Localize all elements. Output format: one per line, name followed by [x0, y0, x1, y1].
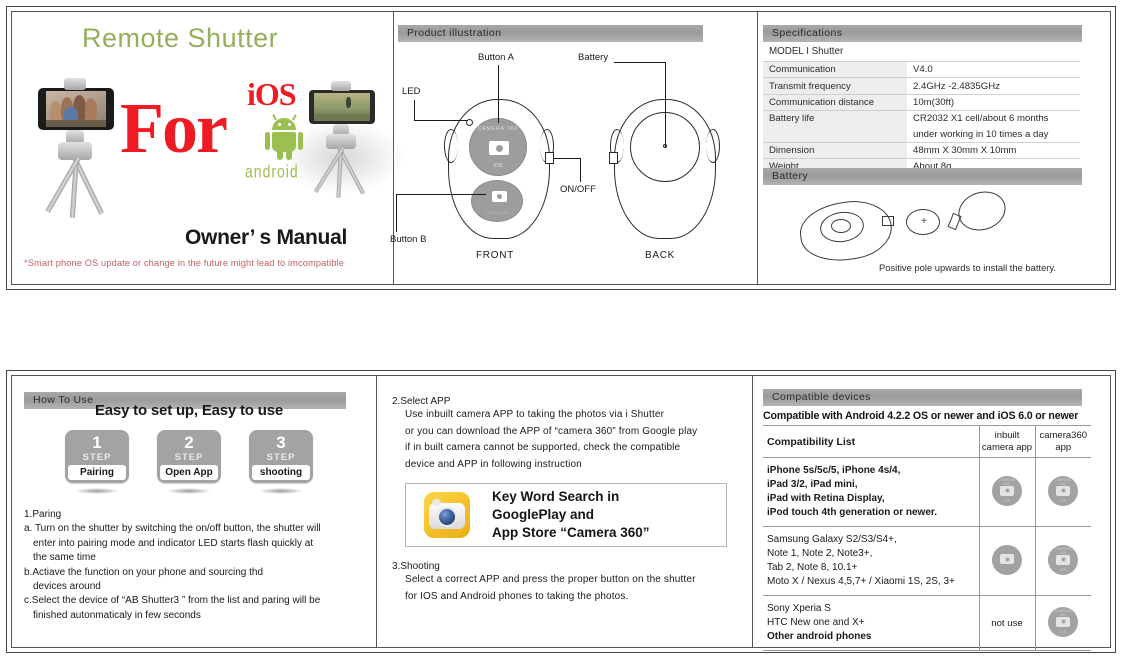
compatibility-table: Compatibility List inbuilt camera app ca…	[763, 425, 1091, 651]
compat-header-list: Compatibility List	[763, 426, 979, 458]
spec-row: Transmit frequency 2.4GHz -2.4835GHz	[763, 78, 1080, 94]
step-3-shadow	[259, 488, 303, 494]
select-app-line: or you can download the APP of “camera 3…	[392, 424, 732, 441]
mini-camera-lens	[1061, 488, 1066, 493]
battery-cover-lid	[953, 186, 1010, 237]
remote-back-side-button	[609, 152, 618, 164]
leader-button-b-v	[396, 194, 397, 232]
spec-key: Dimension	[763, 142, 907, 158]
section-header-compatible-devices: Compatible devices	[763, 389, 1082, 406]
mini-arc-text: CAMERA 360	[995, 478, 1019, 485]
compat-header-c360-l2: app	[1037, 442, 1091, 454]
compatible-subtitle: Compatible with Android 4.2.2 OS or newe…	[763, 410, 1093, 422]
shooting-line: Select a correct APP and press the prope…	[392, 572, 732, 589]
camera360-button-icon: CAMERA 360 iOS	[1048, 476, 1078, 506]
compatible-devices-area: Compatible with Android 4.2.2 OS or newe…	[763, 410, 1093, 651]
label-onoff: ON/OFF	[560, 184, 596, 195]
spec-value: 10m(30ft)	[907, 94, 1080, 110]
leader-led-v	[414, 100, 415, 121]
spec-value: under working in 10 times a day	[907, 127, 1080, 143]
label-led: LED	[402, 86, 420, 97]
camera360-icon-lens	[437, 507, 457, 527]
step-1-word: STEP	[65, 452, 129, 463]
mini-camera-lens	[1005, 557, 1010, 562]
compat-header-camera360: camera360 app	[1035, 426, 1091, 458]
tripod-left-head	[64, 78, 86, 90]
leader-onoff-h	[554, 158, 580, 159]
select-app-area: 2.Select APP Use inbuilt camera APP to t…	[392, 396, 732, 605]
compat-camera360-cell: CAMERA 360 iOS	[1035, 527, 1091, 596]
device-line: Other android phones	[767, 630, 975, 644]
mini-camera-lens	[1005, 488, 1010, 493]
device-line: Sony Xperia S	[767, 602, 975, 616]
button-a-arc-text: CAMERA 360	[470, 126, 526, 132]
select-app-heading: 2.Select APP	[392, 396, 732, 407]
button-b-sub-text: CAMERA 360	[472, 210, 522, 215]
spec-key: Communication	[763, 62, 907, 78]
step-3-word: STEP	[249, 452, 313, 463]
phone-left-screen	[46, 91, 106, 127]
mini-arc-text: CAMERA 360	[1051, 609, 1075, 616]
mini-sub-text: iOS	[1048, 499, 1078, 503]
hero-ios-text: iOS	[247, 76, 296, 113]
device-line: Note 1, Note 2, Note3+,	[767, 547, 975, 561]
mini-sub-text: iOS	[992, 499, 1022, 503]
remote-front-grip-left	[444, 129, 458, 163]
mini-arc-text: CAMERA 360	[1051, 478, 1075, 485]
compat-header-inbuilt: inbuilt camera app	[979, 426, 1035, 458]
spec-value: 2.4GHz -2.4835GHz	[907, 78, 1080, 94]
select-app-line: if in built camera cannot be supported, …	[392, 440, 732, 457]
camera360-app-icon	[424, 492, 470, 538]
pairing-line: the same time	[24, 551, 354, 565]
android-wordmark: android	[245, 161, 299, 181]
keyword-search-text: Key Word Search in GooglePlay and App St…	[492, 488, 650, 542]
bottom-col-divider-1	[376, 376, 377, 647]
spec-row: Dimension 48mm X 30mm X 10mm	[763, 142, 1080, 158]
step-2-shadow	[167, 488, 211, 494]
button-a-sub-text: iOS	[470, 163, 526, 169]
compatibility-warning-note: *Smart phone OS update or change in the …	[24, 258, 344, 268]
step-3-number: 3	[249, 430, 313, 452]
label-view-front: FRONT	[476, 250, 514, 261]
phone-right-screen	[314, 93, 370, 121]
spec-value: 48mm X 30mm X 10mm	[907, 142, 1080, 158]
device-line: Samsung Galaxy S2/S3/S4+,	[767, 533, 975, 547]
leader-button-a	[498, 65, 499, 123]
compat-header-inbuilt-l2: camera app	[981, 442, 1034, 454]
spec-value: CR2032 X1 cell/about 6 months	[907, 111, 1080, 127]
battery-plus-symbol: +	[919, 217, 929, 227]
device-line: iPad with Retina Display,	[767, 492, 975, 506]
keyword-line-2: GooglePlay and	[492, 506, 650, 524]
camera360-button-icon: CAMERA 360 iOS	[1048, 545, 1078, 575]
compat-device-list: Samsung Galaxy S2/S3/S4+, Note 1, Note 2…	[763, 527, 979, 596]
remote-onoff-switch[interactable]	[545, 152, 554, 164]
shooting-heading: 3.Shooting	[392, 561, 732, 572]
spec-key: Communication distance	[763, 94, 907, 110]
device-line: iPhone 5s/5c/5, iPhone 4s/4,	[767, 464, 975, 478]
leader-onoff-v	[580, 158, 581, 182]
spec-value: V4.0	[907, 62, 1080, 78]
battery-shell-center	[831, 219, 851, 233]
camera360-button-icon: CAMERA 360 iOS	[992, 476, 1022, 506]
table-row: Samsung Galaxy S2/S3/S4+, Note 1, Note 2…	[763, 527, 1091, 596]
device-line: iPod touch 4th generation or newer.	[767, 506, 975, 520]
device-line: Tab 2, Note 8, 10.1+	[767, 561, 975, 575]
select-app-line: device and APP in following instruction	[392, 457, 732, 474]
spec-key: Battery life	[763, 111, 907, 127]
step-1-name: Pairing	[68, 465, 126, 480]
compat-header-c360-l1: camera360	[1037, 430, 1091, 442]
how-to-use-tagline: Easy to set up, Easy to use	[24, 402, 354, 419]
pairing-line: finished autonmaticaly in few seconds	[24, 609, 354, 623]
specifications-table: Communication V4.0 Transmit frequency 2.…	[763, 61, 1080, 176]
pairing-instructions: 1.Paring a. Turn on the shutter by switc…	[24, 508, 354, 623]
how-to-use-area: Easy to set up, Easy to use 1 STEP Pairi…	[24, 392, 354, 623]
spec-row: Communication V4.0	[763, 62, 1080, 78]
compat-camera360-cell: CAMERA 360 iOS	[1035, 458, 1091, 527]
compat-inbuilt-cell	[979, 527, 1035, 596]
step-badge-1: 1 STEP Pairing	[65, 430, 129, 483]
device-line: Moto X / Nexus 4,5,7+ / Xiaomi 1S, 2S, 3…	[767, 575, 975, 589]
pairing-line: c.Select the device of “AB Shutter3 ” fr…	[24, 594, 354, 608]
keyword-line-3: App Store “Camera 360”	[492, 524, 650, 542]
keyword-line-1: Key Word Search in	[492, 488, 650, 506]
compat-inbuilt-cell: CAMERA 360 iOS	[979, 458, 1035, 527]
step-badge-2: 2 STEP Open App	[157, 430, 221, 483]
mini-sub-text: iOS	[1048, 630, 1078, 634]
battery-install-caption: Positive pole upwards to install the bat…	[879, 262, 1056, 273]
spec-model-name: MODEL I Shutter	[763, 46, 1083, 57]
leader-battery-h	[614, 62, 666, 63]
step-1-number: 1	[65, 430, 129, 452]
shooting-line: for IOS and Android phones to taking the…	[392, 589, 732, 606]
table-row: Sony Xperia S HTC New one and X+ Other a…	[763, 596, 1091, 651]
spec-row-continuation: under working in 10 times a day	[763, 127, 1080, 143]
android-robot-icon	[264, 118, 304, 162]
keyword-search-box: Key Word Search in GooglePlay and App St…	[405, 483, 727, 547]
step-1-shadow	[75, 488, 119, 494]
top-col-divider-2	[757, 12, 758, 284]
button-a-camera-icon	[489, 141, 509, 155]
mini-camera-lens	[1061, 619, 1066, 624]
remote-back-grip-right	[706, 129, 720, 163]
bottom-col-divider-2	[752, 376, 753, 647]
compat-camera360-cell: CAMERA 360 iOS	[1035, 596, 1091, 651]
battery-installation-illustration: +	[800, 192, 1090, 262]
compat-header-inbuilt-l1: inbuilt	[981, 430, 1034, 442]
owners-manual-heading: Owner’ s Manual	[185, 226, 347, 250]
pairing-line: enter into pairing mode and indicator LE…	[24, 537, 354, 551]
device-line: HTC New one and X+	[767, 616, 975, 630]
spec-key: Transmit frequency	[763, 78, 907, 94]
step-2-word: STEP	[157, 452, 221, 463]
specifications-area: MODEL I Shutter Communication V4.0 Trans…	[763, 46, 1083, 176]
spec-row: Communication distance 10m(30ft)	[763, 94, 1080, 110]
leader-led-h	[414, 120, 468, 121]
remote-button-a[interactable]: CAMERA 360 iOS	[469, 118, 527, 176]
tripod-right-head	[331, 81, 351, 91]
label-battery: Battery	[578, 52, 608, 63]
mini-sub-text: iOS	[1048, 568, 1078, 572]
pairing-line: a. Turn on the shutter by switching the …	[24, 522, 354, 536]
camera360-button-icon: CAMERA 360 iOS	[1048, 607, 1078, 637]
steps-row: 1 STEP Pairing 2 STEP Open App 3 STEP sh…	[24, 430, 354, 494]
label-view-back: BACK	[645, 250, 675, 261]
leader-battery-v	[665, 62, 666, 147]
spec-row: Battery life CR2032 X1 cell/about 6 mont…	[763, 111, 1080, 127]
device-line: iPad 3/2, iPad mini,	[767, 478, 975, 492]
remote-button-b[interactable]: CAMERA 360	[471, 180, 523, 222]
label-button-b: Button B	[390, 234, 426, 245]
product-illustration-area: CAMERA 360 iOS CAMERA 360 Button A LED B…	[392, 24, 742, 279]
battery-cover-tab	[948, 213, 962, 230]
tripod-phone-right-illustration	[295, 78, 395, 206]
select-app-line: Use inbuilt camera APP to taking the pho…	[392, 407, 732, 424]
shooting-instructions: 3.Shooting Select a correct APP and pres…	[392, 561, 732, 605]
camera-plain-button-icon	[992, 545, 1022, 575]
spec-key	[763, 127, 907, 143]
mini-camera-lens	[1061, 557, 1066, 562]
tripod-phone-left-illustration	[26, 74, 136, 219]
leader-button-b-h	[396, 194, 486, 195]
table-row: iPhone 5s/5c/5, iPhone 4s/4, iPad 3/2, i…	[763, 458, 1091, 527]
compat-inbuilt-cell: not use	[979, 596, 1035, 651]
step-2-number: 2	[157, 430, 221, 452]
compat-device-list: iPhone 5s/5c/5, iPhone 4s/4, iPad 3/2, i…	[763, 458, 979, 527]
compat-header-row: Compatibility List inbuilt camera app ca…	[763, 426, 1091, 458]
step-badge-3: 3 STEP shooting	[249, 430, 313, 483]
page-title: Remote Shutter	[82, 23, 278, 54]
step-3-name: shooting	[252, 465, 310, 480]
button-b-camera-icon	[492, 191, 507, 202]
pairing-line: b.Actiave the function on your phone and…	[24, 566, 354, 580]
compat-device-list: Sony Xperia S HTC New one and X+ Other a…	[763, 596, 979, 651]
section-header-battery: Battery	[763, 168, 1082, 185]
mini-arc-text: CAMERA 360	[1051, 547, 1075, 554]
pairing-heading: 1.Paring	[24, 508, 354, 522]
battery-latch	[882, 216, 894, 226]
section-header-specifications: Specifications	[763, 25, 1082, 42]
label-button-a: Button A	[478, 52, 514, 63]
pairing-line: devices around	[24, 580, 354, 594]
camera360-icon-flash	[432, 499, 441, 506]
step-2-name: Open App	[160, 465, 218, 480]
